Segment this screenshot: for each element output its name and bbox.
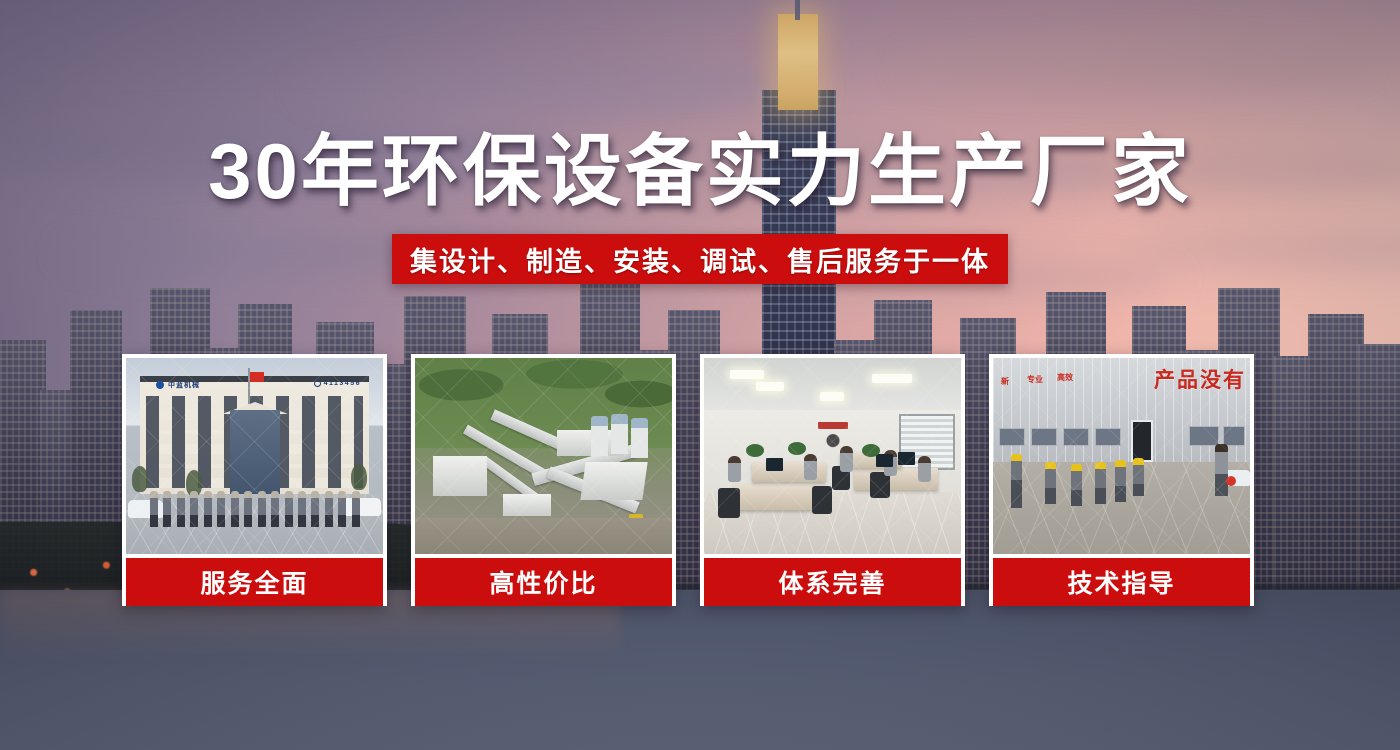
photo-office-building: 中蓝机械 4113456 <box>126 358 383 554</box>
card-caption: 技术指导 <box>993 558 1250 606</box>
phone-icon <box>314 380 321 387</box>
building-phone: 4113456 <box>314 380 361 387</box>
factory-wall-headline: 产品没有 <box>1154 364 1246 394</box>
factory-wall-slogan-2: 专业 <box>1027 374 1043 385</box>
staff-row <box>150 491 360 531</box>
company-name: 中蓝机械 <box>168 380 200 390</box>
photo-factory-yard: 产品没有 新 专业 高效 <box>993 358 1250 554</box>
company-logo-icon <box>156 381 164 389</box>
subtitle-text: 集设计、制造、安装、调试、售后服务于一体 <box>410 240 990 279</box>
instructor-figure <box>1215 444 1228 496</box>
factory-door <box>1131 420 1153 462</box>
phone-number: 4113456 <box>324 380 361 387</box>
building-signage: 中蓝机械 <box>156 380 200 390</box>
card-caption: 高性价比 <box>415 558 672 606</box>
card-caption: 服务全面 <box>126 558 383 606</box>
flag-icon <box>250 372 264 382</box>
plant-structures <box>433 422 657 532</box>
factory-wall-slogan-1: 新 <box>1001 376 1009 387</box>
feature-card[interactable]: 中蓝机械 4113456 服务全面 <box>122 354 387 606</box>
photo-plant-aerial <box>415 358 672 554</box>
card-caption: 体系完善 <box>704 558 961 606</box>
factory-wall-slogan-3: 高效 <box>1057 372 1073 383</box>
tower-crown-lights <box>778 14 818 110</box>
page-title: 30年环保设备实力生产厂家 <box>0 132 1400 210</box>
subtitle-banner: 集设计、制造、安装、调试、售后服务于一体 <box>392 234 1008 284</box>
feature-card[interactable]: 高性价比 <box>411 354 676 606</box>
feature-card-list: 中蓝机械 4113456 服务全面 <box>122 354 1278 606</box>
red-helmet-icon <box>1226 476 1236 486</box>
feature-card[interactable]: 体系完善 <box>700 354 965 606</box>
feature-card[interactable]: 产品没有 新 专业 高效 技术指导 <box>989 354 1254 606</box>
photo-office-interior <box>704 358 961 554</box>
river-water <box>0 590 1400 750</box>
tower-spire <box>795 0 800 20</box>
